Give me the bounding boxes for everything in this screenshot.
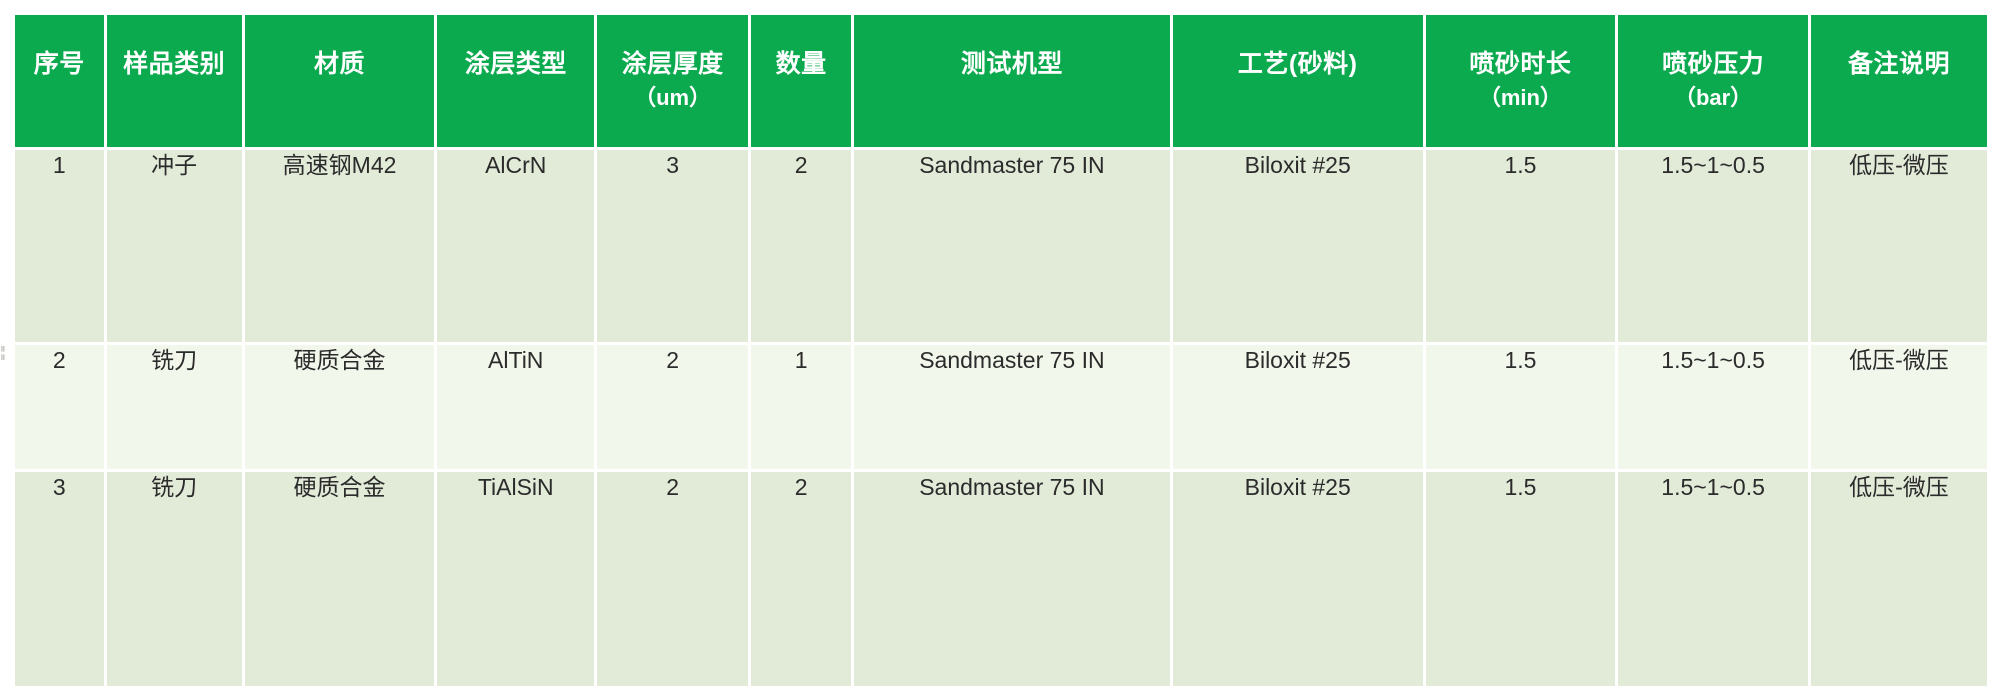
cell-sample: 铣刀	[107, 472, 242, 686]
cell-thickness: 3	[597, 150, 748, 342]
column-header-blast-time-unit: （min）	[1426, 81, 1616, 114]
cell-pressure: 1.5~1~0.5	[1618, 472, 1808, 686]
column-header-remark-label: 备注说明	[1848, 50, 1950, 78]
column-header-blast-time[interactable]: 喷砂时长 （min）	[1426, 15, 1616, 147]
cell-seq: 2	[15, 345, 104, 469]
column-header-thickness-label: 涂层厚度	[622, 50, 724, 78]
column-header-process[interactable]: 工艺(砂料)	[1173, 15, 1423, 147]
cell-remark: 低压-微压	[1811, 345, 1987, 469]
cell-material: 硬质合金	[245, 345, 435, 469]
cell-remark: 低压-微压	[1811, 472, 1987, 686]
cell-sample: 铣刀	[107, 345, 242, 469]
column-header-sample[interactable]: 样品类别	[107, 15, 242, 147]
cell-process: Biloxit #25	[1173, 472, 1423, 686]
cell-material: 高速钢M42	[245, 150, 435, 342]
table-header: 序号 样品类别 材质 涂层类型 涂层厚度 （um）	[15, 15, 1987, 147]
column-header-seq[interactable]: 序号	[15, 15, 104, 147]
table-row[interactable]: 3 铣刀 硬质合金 TiAlSiN 2 2 Sandmaster 75 IN B…	[15, 472, 1987, 686]
column-header-blast-time-label: 喷砂时长	[1469, 50, 1571, 78]
cell-thickness: 2	[597, 345, 748, 469]
column-header-remark[interactable]: 备注说明	[1811, 15, 1987, 147]
cell-qty: 2	[751, 472, 851, 686]
cell-qty: 1	[751, 345, 851, 469]
column-header-qty-label: 数量	[776, 50, 827, 78]
column-header-sample-label: 样品类别	[123, 50, 225, 78]
column-header-material[interactable]: 材质	[245, 15, 435, 147]
column-header-machine[interactable]: 测试机型	[854, 15, 1170, 147]
header-row: 序号 样品类别 材质 涂层类型 涂层厚度 （um）	[15, 15, 1987, 147]
cell-qty: 2	[751, 150, 851, 342]
cell-seq: 3	[15, 472, 104, 686]
cell-coating: AlCrN	[437, 150, 594, 342]
cell-coating: AlTiN	[437, 345, 594, 469]
column-header-thickness[interactable]: 涂层厚度 （um）	[597, 15, 748, 147]
cell-machine: Sandmaster 75 IN	[854, 150, 1170, 342]
column-header-qty[interactable]: 数量	[751, 15, 851, 147]
column-header-coating-label: 涂层类型	[465, 50, 567, 78]
column-header-thickness-unit: （um）	[597, 81, 748, 114]
cell-blast-time: 1.5	[1426, 472, 1616, 686]
cell-material: 硬质合金	[245, 472, 435, 686]
cell-sample: 冲子	[107, 150, 242, 342]
table-body: 1 冲子 高速钢M42 AlCrN 3 2 Sandmaster 75 IN B…	[15, 150, 1987, 686]
column-header-coating[interactable]: 涂层类型	[437, 15, 594, 147]
column-header-machine-label: 测试机型	[961, 50, 1063, 78]
clipped-margin-artifact: ¦¦	[0, 344, 10, 378]
column-header-process-label: 工艺(砂料)	[1238, 50, 1358, 78]
cell-blast-time: 1.5	[1426, 150, 1616, 342]
cell-remark: 低压-微压	[1811, 150, 1987, 342]
table-canvas: ¦¦ 序号 样品类别 材质 涂层类型	[0, 0, 2015, 637]
cell-machine: Sandmaster 75 IN	[854, 472, 1170, 686]
cell-pressure: 1.5~1~0.5	[1618, 345, 1808, 469]
cell-process: Biloxit #25	[1173, 345, 1423, 469]
column-header-pressure-unit: （bar）	[1618, 81, 1808, 114]
cell-pressure: 1.5~1~0.5	[1618, 150, 1808, 342]
table-row[interactable]: 1 冲子 高速钢M42 AlCrN 3 2 Sandmaster 75 IN B…	[15, 150, 1987, 342]
sample-test-plan-table: 序号 样品类别 材质 涂层类型 涂层厚度 （um）	[12, 12, 1990, 689]
cell-machine: Sandmaster 75 IN	[854, 345, 1170, 469]
cell-blast-time: 1.5	[1426, 345, 1616, 469]
cell-seq: 1	[15, 150, 104, 342]
column-header-pressure-label: 喷砂压力	[1662, 50, 1764, 78]
column-header-pressure[interactable]: 喷砂压力 （bar）	[1618, 15, 1808, 147]
column-header-seq-label: 序号	[34, 50, 85, 78]
cell-thickness: 2	[597, 472, 748, 686]
cell-process: Biloxit #25	[1173, 150, 1423, 342]
cell-coating: TiAlSiN	[437, 472, 594, 686]
column-header-material-label: 材质	[314, 50, 365, 78]
table-row[interactable]: 2 铣刀 硬质合金 AlTiN 2 1 Sandmaster 75 IN Bil…	[15, 345, 1987, 469]
